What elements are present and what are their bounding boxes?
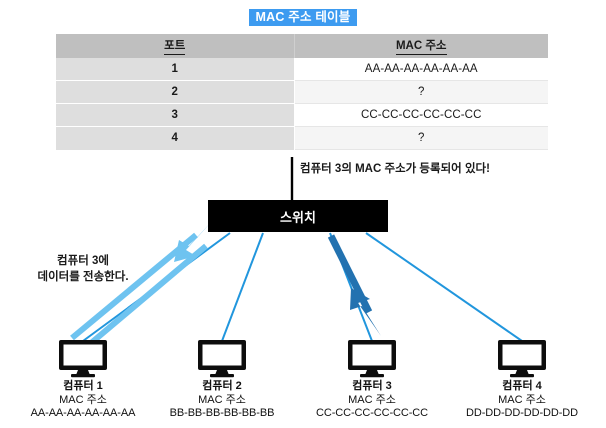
cell-mac: CC-CC-CC-CC-CC-CC [294, 104, 548, 127]
computer-node-1[interactable]: 컴퓨터 1 MAC 주소 AA-AA-AA-AA-AA-AA [13, 338, 153, 421]
column-header-mac: MAC 주소 [294, 34, 548, 58]
computer-node-2[interactable]: 컴퓨터 2 MAC 주소 BB-BB-BB-BB-BB-BB [152, 338, 292, 421]
link-switch-computer4 [366, 233, 522, 341]
computer-caption: 컴퓨터 4 MAC 주소 DD-DD-DD-DD-DD-DD [452, 380, 592, 421]
computer-mac-value: CC-CC-CC-CC-CC-CC [302, 407, 442, 421]
table-header-row: 포트 MAC 주소 [56, 34, 548, 58]
computer-mac-label: MAC 주소 [302, 394, 442, 408]
link-switch-computer3 [330, 233, 372, 341]
column-header-port: 포트 [56, 34, 294, 58]
table-row: 3 CC-CC-CC-CC-CC-CC [56, 104, 548, 127]
cell-port: 1 [56, 58, 294, 81]
cell-mac: ? [294, 81, 548, 104]
table-row: 1 AA-AA-AA-AA-AA-AA [56, 58, 548, 81]
computer-node-4[interactable]: 컴퓨터 4 MAC 주소 DD-DD-DD-DD-DD-DD [452, 338, 592, 421]
computer-mac-value: AA-AA-AA-AA-AA-AA [13, 407, 153, 421]
computer-mac-value: DD-DD-DD-DD-DD-DD [452, 407, 592, 421]
diagram-title: MAC 주소 테이블 [0, 8, 606, 26]
monitor-icon [56, 338, 110, 378]
cell-mac: AA-AA-AA-AA-AA-AA [294, 58, 548, 81]
link-switch-computer1 [83, 233, 230, 341]
monitor-icon [195, 338, 249, 378]
computer-name: 컴퓨터 3 [302, 380, 442, 394]
table-row: 2 ? [56, 81, 548, 104]
annotation-send-note: 컴퓨터 3에 데이터를 전송한다. [18, 253, 148, 285]
link-switch-computer2 [222, 233, 263, 341]
cell-port: 3 [56, 104, 294, 127]
monitor-icon [345, 338, 399, 378]
annotation-send-line2: 데이터를 전송한다. [37, 271, 128, 283]
title-badge: MAC 주소 테이블 [249, 9, 358, 26]
arrow-switch-to-computer3 [331, 236, 381, 336]
diagram-canvas: MAC 주소 테이블 포트 MAC 주소 1 AA-AA-AA-AA-AA-AA… [0, 0, 606, 428]
switch-node[interactable]: 스위치 [208, 200, 388, 232]
annotation-send-line1: 컴퓨터 3에 [57, 255, 109, 267]
computer-node-3[interactable]: 컴퓨터 3 MAC 주소 CC-CC-CC-CC-CC-CC [302, 338, 442, 421]
table-row: 4 ? [56, 127, 548, 150]
computer-name: 컴퓨터 1 [13, 380, 153, 394]
cell-port: 2 [56, 81, 294, 104]
computer-caption: 컴퓨터 2 MAC 주소 BB-BB-BB-BB-BB-BB [152, 380, 292, 421]
computer-name: 컴퓨터 2 [152, 380, 292, 394]
computer-caption: 컴퓨터 3 MAC 주소 CC-CC-CC-CC-CC-CC [302, 380, 442, 421]
cell-port: 4 [56, 127, 294, 150]
mac-address-table: 포트 MAC 주소 1 AA-AA-AA-AA-AA-AA 2 ? 3 CC-C… [56, 34, 548, 150]
monitor-icon [495, 338, 549, 378]
cell-mac: ? [294, 127, 548, 150]
switch-label: 스위치 [280, 207, 316, 226]
computer-caption: 컴퓨터 1 MAC 주소 AA-AA-AA-AA-AA-AA [13, 380, 153, 421]
computer-name: 컴퓨터 4 [452, 380, 592, 394]
computer-mac-label: MAC 주소 [452, 394, 592, 408]
annotation-table-note: 컴퓨터 3의 MAC 주소가 등록되어 있다! [300, 160, 490, 176]
computer-mac-label: MAC 주소 [152, 394, 292, 408]
computer-mac-value: BB-BB-BB-BB-BB-BB [152, 407, 292, 421]
computer-mac-label: MAC 주소 [13, 394, 153, 408]
